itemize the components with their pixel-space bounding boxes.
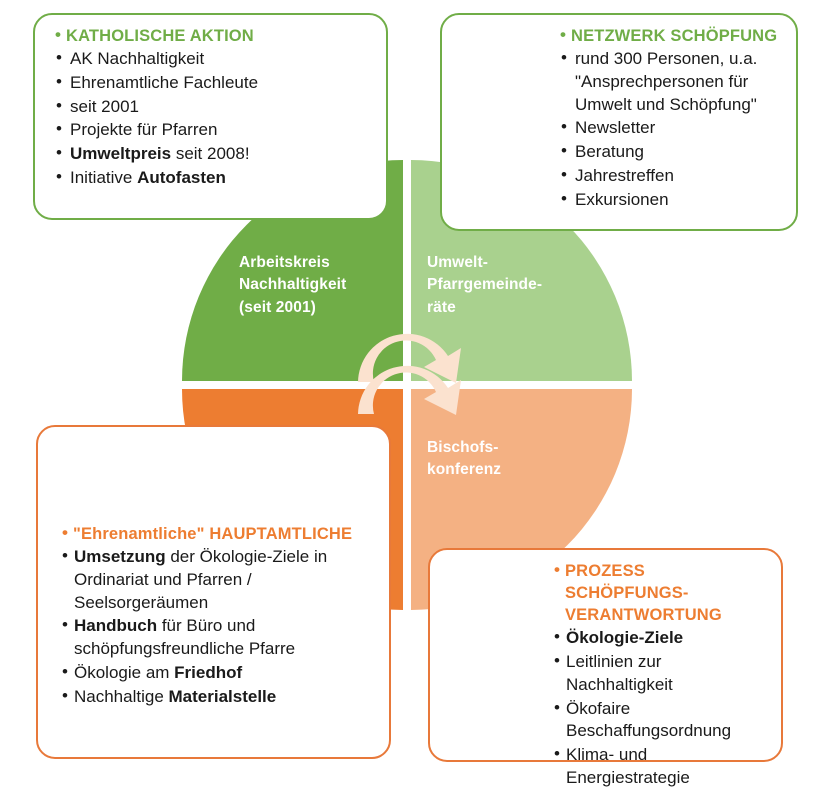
- quadrant-label-line-2: konferenz: [427, 459, 582, 481]
- list-item: Leitlinien zur Nachhaltigkeit: [554, 651, 767, 697]
- quadrant-label-line-3: räte: [427, 297, 582, 319]
- list-item: Klima- und Energiestrategie: [554, 744, 767, 790]
- callout-heading-prozess-schoepfungsverantwortung: PROZESS SCHÖPFUNGS-VERANTWORTUNG: [554, 560, 767, 626]
- list-item-emphasis: Materialstelle: [169, 687, 277, 706]
- diagram-canvas: Arbeitskreis Nachhaltigkeit (seit 2001) …: [0, 0, 815, 791]
- quadrant-label-umwelt-pfarrgemeinderaete: Umwelt- Pfarrgemeinde- räte: [427, 252, 582, 319]
- list-item-emphasis: Umsetzung: [74, 547, 166, 566]
- callout-list-katholische-aktion: KATHOLISCHE AKTION AK Nachhaltigkeit Ehr…: [49, 25, 372, 190]
- list-item: Nachhaltige Materialstelle: [62, 686, 375, 709]
- callout-netzwerk-schoepfung[interactable]: NETZWERK SCHÖPFUNG rund 300 Personen, u.…: [440, 13, 798, 231]
- quadrant-label-line-1: Umwelt-: [427, 252, 582, 274]
- list-item: Ehrenamtliche Fachleute: [55, 72, 372, 95]
- callout-heading-katholische-aktion: KATHOLISCHE AKTION: [55, 25, 372, 47]
- quadrant-label-line-3: (seit 2001): [239, 297, 387, 319]
- quadrant-label-line-1: Bischofs-: [427, 437, 582, 459]
- list-item: Newsletter: [560, 117, 782, 140]
- list-item: seit 2001: [55, 96, 372, 119]
- list-item: Projekte für Pfarren: [55, 119, 372, 142]
- list-item: Ökologie am Friedhof: [62, 662, 375, 685]
- quadrant-label-line-2: Pfarrgemeinde-: [427, 274, 582, 296]
- callout-heading-ehrenamtliche-hauptamtliche: "Ehrenamtliche" HAUPTAMTLICHE: [62, 523, 375, 545]
- list-item: rund 300 Personen, u.a. "Ansprechpersone…: [560, 48, 782, 116]
- list-item: Umweltpreis seit 2008!: [55, 143, 372, 166]
- list-item: Beratung: [560, 141, 782, 164]
- list-item: Initiative Autofasten: [55, 167, 372, 190]
- list-item: Exkursionen: [560, 189, 782, 212]
- list-item: AK Nachhaltigkeit: [55, 48, 372, 71]
- quadrant-label-line-2: Nachhaltigkeit: [239, 274, 387, 296]
- list-item-emphasis: Friedhof: [174, 663, 242, 682]
- list-item: Ökofaire Beschaffungsordnung: [554, 698, 767, 744]
- callout-ehrenamtliche-hauptamtliche[interactable]: "Ehrenamtliche" HAUPTAMTLICHE Umsetzung …: [36, 425, 391, 759]
- callout-heading-netzwerk-schoepfung: NETZWERK SCHÖPFUNG: [560, 25, 782, 47]
- quadrant-label-line-1: Arbeitskreis: [239, 252, 387, 274]
- quadrant-label-arbeitskreis-nachhaltigkeit: Arbeitskreis Nachhaltigkeit (seit 2001): [239, 252, 387, 319]
- list-item: Ökologie-Ziele: [554, 627, 767, 650]
- callout-katholische-aktion[interactable]: KATHOLISCHE AKTION AK Nachhaltigkeit Ehr…: [33, 13, 388, 220]
- list-item: Jahrestreffen: [560, 165, 782, 188]
- list-item-emphasis: Handbuch: [74, 616, 157, 635]
- quadrant-label-bischofskonferenz: Bischofs- konferenz: [427, 437, 582, 482]
- callout-list-netzwerk-schoepfung: NETZWERK SCHÖPFUNG rund 300 Personen, u.…: [456, 25, 782, 211]
- callout-list-prozess-schoepfungsverantwortung: PROZESS SCHÖPFUNGS-VERANTWORTUNG Ökologi…: [444, 560, 767, 790]
- callout-prozess-schoepfungsverantwortung[interactable]: PROZESS SCHÖPFUNGS-VERANTWORTUNG Ökologi…: [428, 548, 783, 762]
- list-item: Umsetzung der Ökologie-Ziele in Ordinari…: [62, 546, 375, 614]
- callout-list-ehrenamtliche-hauptamtliche: "Ehrenamtliche" HAUPTAMTLICHE Umsetzung …: [52, 437, 375, 708]
- list-item-emphasis: Ökologie-Ziele: [566, 628, 683, 647]
- list-item-emphasis: Autofasten: [137, 168, 226, 187]
- list-item: Handbuch für Büro und schöpfungsfreundli…: [62, 615, 375, 661]
- list-item-emphasis: Umweltpreis: [70, 144, 171, 163]
